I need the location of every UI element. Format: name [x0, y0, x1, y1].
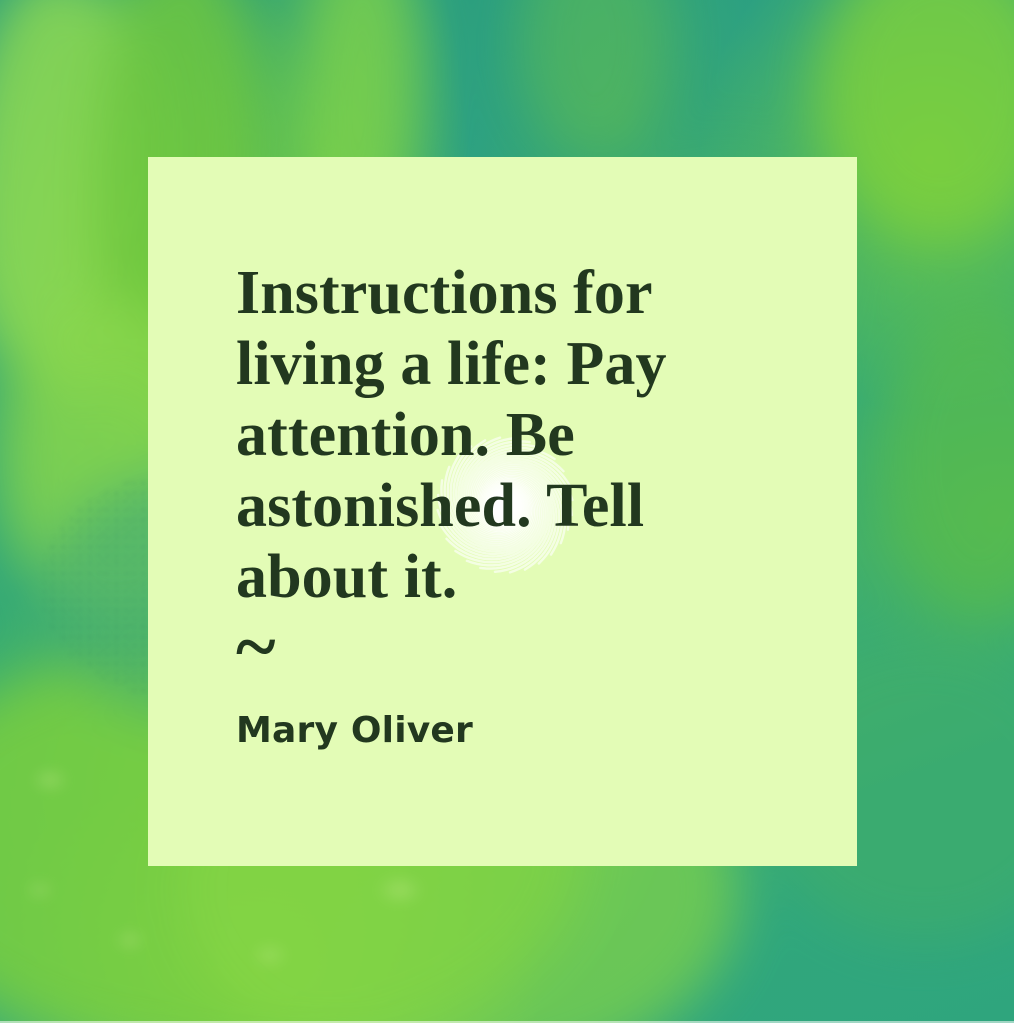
quote-poster: Instructions for living a life: Pay atte…: [0, 0, 1014, 1023]
foliage-blob: [880, 300, 1014, 620]
quote-line-1: Instructions for: [236, 258, 706, 329]
quote-line-3: attention. Be: [236, 400, 706, 471]
quote-line-5: about it.: [236, 542, 706, 613]
foliage-blob: [520, 0, 670, 160]
quote-line-4: astonished. Tell: [236, 471, 706, 542]
quote-line-2: living a life: Pay: [236, 329, 706, 400]
quote-author: Mary Oliver: [236, 709, 706, 753]
quote-text-block: Instructions for living a life: Pay atte…: [236, 258, 706, 753]
tilde-divider-icon: ~: [236, 629, 706, 665]
